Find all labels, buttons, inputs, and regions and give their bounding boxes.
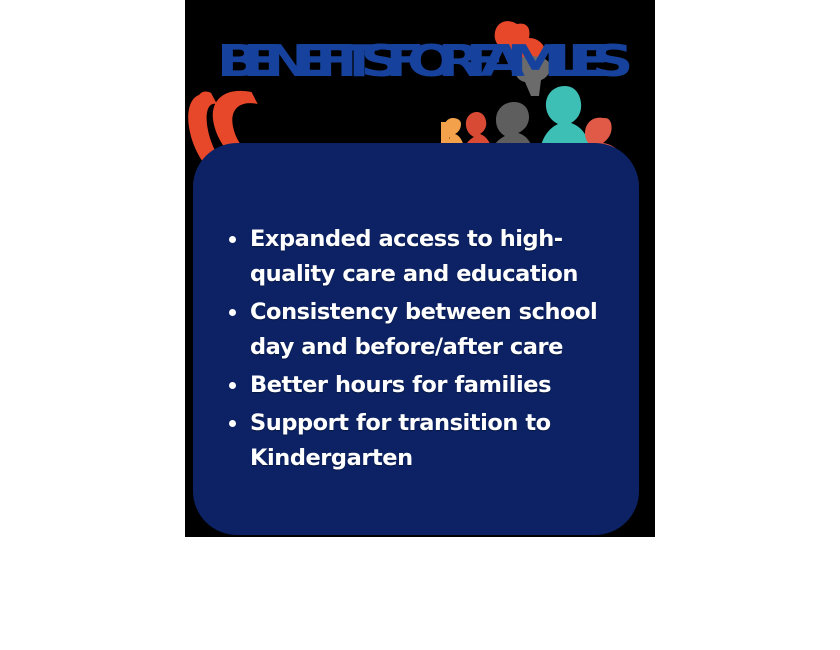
list-item: Expanded access to high-quality care and… xyxy=(222,222,622,292)
bullet-dot-icon xyxy=(229,236,236,243)
list-item: Better hours for families xyxy=(222,368,622,403)
page-title-text: BENEFITS FOR FAMILIES xyxy=(225,40,614,84)
bullet-dot-icon xyxy=(229,309,236,316)
list-item: Consistency between school day and befor… xyxy=(222,295,622,365)
list-item-label: Better hours for families xyxy=(250,372,551,398)
bullet-dot-icon xyxy=(229,382,236,389)
list-item-label: Consistency between school day and befor… xyxy=(250,299,597,360)
list-item-label: Expanded access to high-quality care and… xyxy=(250,226,578,287)
bullet-dot-icon xyxy=(229,420,236,427)
page-title: BENEFITS FOR FAMILIES xyxy=(185,38,655,86)
benefits-list: Expanded access to high-quality care and… xyxy=(222,222,622,479)
list-item-label: Support for transition to Kindergarten xyxy=(250,410,551,471)
list-item: Support for transition to Kindergarten xyxy=(222,406,622,476)
